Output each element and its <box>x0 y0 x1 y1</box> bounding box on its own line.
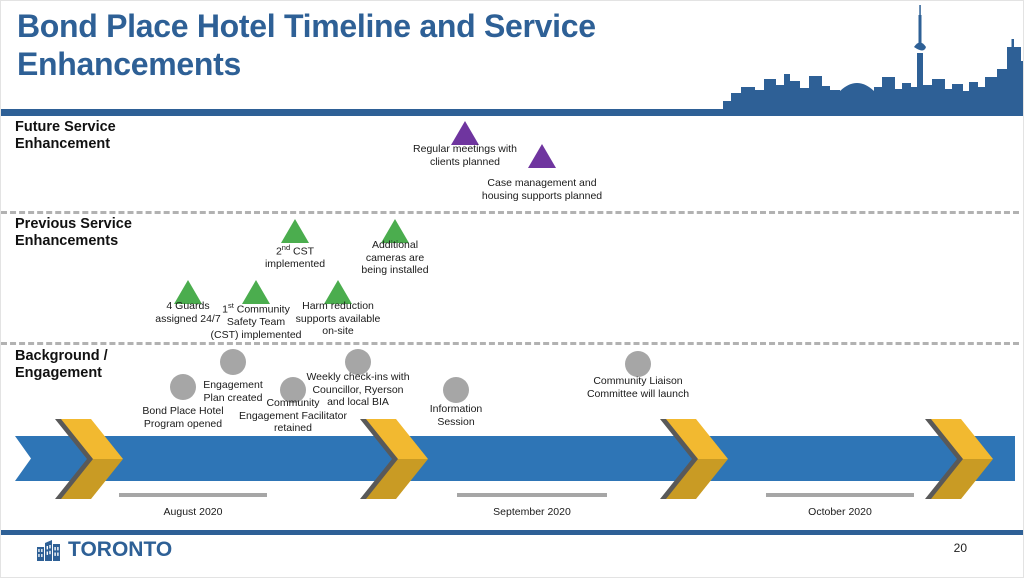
section-divider-2 <box>1 342 1019 345</box>
timeline-chevron-marker <box>360 419 422 499</box>
timeline-chevron-marker <box>660 419 722 499</box>
circle-marker-icon <box>625 351 651 377</box>
toronto-skyline-icon <box>723 1 1023 109</box>
previous-service-marker-label: Additionalcameras arebeing installed <box>345 239 445 277</box>
month-tick <box>457 493 607 497</box>
timeline-chevron-marker <box>925 419 987 499</box>
future-service-marker-label: Case management andhousing supports plan… <box>472 177 612 202</box>
circle-marker-icon <box>170 374 196 400</box>
timeline-chevron-marker <box>55 419 117 499</box>
timeline-band <box>15 436 1015 481</box>
footer-divider <box>1 530 1023 535</box>
toronto-logo: TORONTO <box>37 537 172 563</box>
month-label: August 2020 <box>119 506 267 518</box>
row-label-previous-service: Previous Service Enhancements <box>15 216 205 250</box>
month-label: October 2020 <box>766 506 914 518</box>
row-label-background-engagement: Background / Engagement <box>15 348 195 382</box>
page-title: Bond Place Hotel Timeline and Service En… <box>17 7 757 83</box>
slide-canvas: Bond Place Hotel Timeline and Service En… <box>0 0 1024 578</box>
previous-service-marker-label: 2nd CSTimplemented <box>240 242 350 271</box>
background-engagement-marker-label: CommunityEngagement Facilitatorretained <box>218 397 368 435</box>
previous-service-marker-label: Harm reductionsupports availableon-site <box>278 300 398 338</box>
circle-marker-icon <box>443 377 469 403</box>
background-engagement-marker-label: Community LiaisonCommittee will launch <box>568 375 708 400</box>
page-number: 20 <box>954 541 967 555</box>
triangle-marker-icon <box>528 144 556 168</box>
circle-marker-icon <box>220 349 246 375</box>
month-tick <box>766 493 914 497</box>
future-service-marker-label: Regular meetings withclients planned <box>400 143 530 168</box>
row-label-future-service: Future Service Enhancement <box>15 119 185 153</box>
header-divider <box>1 109 1023 116</box>
toronto-logo-text: TORONTO <box>68 538 172 562</box>
triangle-marker-icon <box>281 219 309 243</box>
month-tick <box>119 493 267 497</box>
triangle-marker-icon <box>451 121 479 145</box>
section-divider-1 <box>1 211 1019 214</box>
toronto-buildings-icon <box>37 539 63 561</box>
month-label: September 2020 <box>457 506 607 518</box>
